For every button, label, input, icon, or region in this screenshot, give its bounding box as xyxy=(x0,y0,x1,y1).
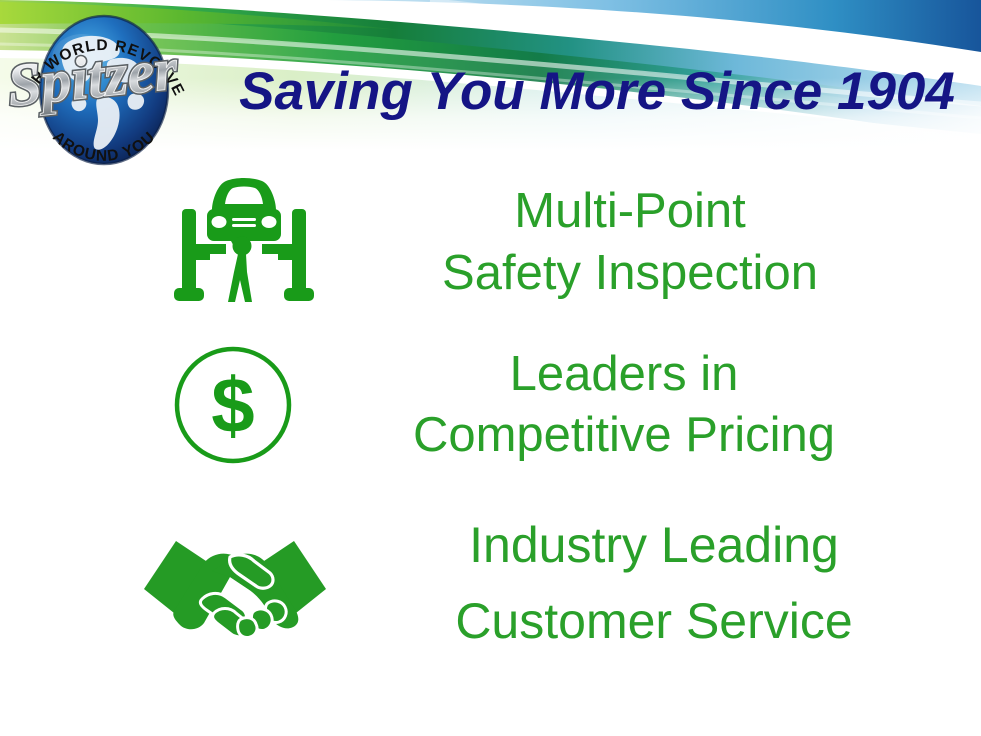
feature-text-inspection: Multi-Point Safety Inspection xyxy=(350,180,910,304)
feature-line: Multi-Point xyxy=(350,180,910,242)
dollar-circle-icon-graphic: $ xyxy=(172,344,294,466)
feature-line: Safety Inspection xyxy=(350,242,910,304)
feature-text-pricing: Leaders in Competitive Pricing xyxy=(344,344,904,466)
feature-line: Leaders in xyxy=(344,344,904,405)
dollar-glyph: $ xyxy=(211,361,254,449)
feature-row-pricing: $ Leaders in Competitive Pricing xyxy=(0,330,981,480)
dollar-circle-icon: $ xyxy=(172,344,294,466)
feature-line: Industry Leading xyxy=(374,507,934,583)
handshake-icon-graphic xyxy=(142,527,328,639)
feature-line: Customer Service xyxy=(374,583,934,659)
spitzer-logo[interactable]: OUR WORLD REVOLVES AROUND YOU Spitzer Sp… xyxy=(6,2,202,178)
car-lift-icon-graphic xyxy=(166,176,314,308)
feature-text-service: Industry Leading Customer Service xyxy=(374,507,934,659)
feature-line: Competitive Pricing xyxy=(344,405,904,466)
spitzer-logo-graphic: OUR WORLD REVOLVES AROUND YOU Spitzer Sp… xyxy=(6,2,202,178)
feature-row-inspection: Multi-Point Safety Inspection xyxy=(0,172,981,312)
car-lift-icon xyxy=(166,176,314,308)
page-title: Saving You More Since 1904 xyxy=(222,62,972,122)
handshake-icon xyxy=(142,527,328,639)
slide-canvas: Saving You More Since 1904 xyxy=(0,0,981,736)
feature-row-service: Industry Leading Customer Service xyxy=(0,508,981,658)
